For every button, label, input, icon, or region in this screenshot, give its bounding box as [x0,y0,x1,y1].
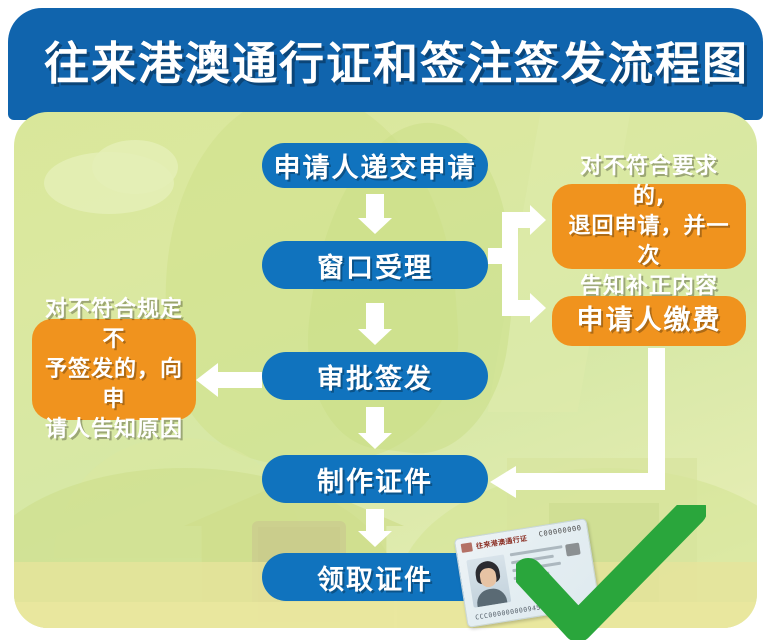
page-title: 往来港澳通行证和签注签发流程图 [44,34,744,94]
card-photo [466,554,511,607]
branch-arrows-icon [488,200,558,328]
note-line: 对不符合规定不 [44,295,184,355]
flow-note-return-application[interactable]: 对不符合要求的, 退回申请，并一次 告知补正内容 [552,184,746,269]
header-panel: 往来港澳通行证和签注签发流程图 [8,8,763,120]
card-emblem-icon [461,542,473,553]
arrow-left-icon [196,363,262,397]
arrow-down-icon [358,407,392,449]
note-line: 退回申请，并一次 [564,212,734,272]
arrow-down-icon [358,194,392,234]
flow-node-collect-document[interactable]: 领取证件 [262,553,488,601]
flow-note-refusal-reason[interactable]: 对不符合规定不 予签发的，向申 请人告知原因 [32,319,196,420]
flow-node-approval-issuance[interactable]: 审批签发 [262,352,488,400]
arrow-down-icon [358,303,392,345]
arrow-down-icon [358,509,392,547]
arrow-loop-left-icon [490,348,665,490]
note-line: 予签发的，向申 [44,355,184,415]
decor-cloud2-icon [92,140,178,194]
note-line: 请人告知原因 [44,415,184,445]
flowchart-canvas: 往来港澳通行证和签注签发流程图 申请人递交申请 窗口受理 审批签发 [0,0,771,644]
flow-node-produce-document[interactable]: 制作证件 [262,455,488,503]
green-check-icon [516,505,706,640]
flow-node-window-acceptance[interactable]: 窗口受理 [262,241,488,289]
flow-node-submit-application[interactable]: 申请人递交申请 [262,143,488,188]
flow-node-applicant-payment[interactable]: 申请人缴费 [552,296,746,346]
note-line: 对不符合要求的, [564,152,734,212]
